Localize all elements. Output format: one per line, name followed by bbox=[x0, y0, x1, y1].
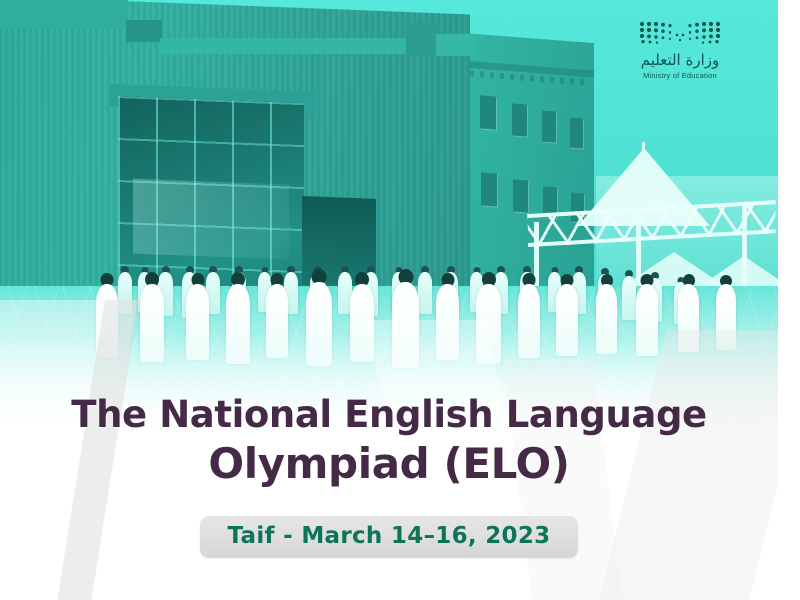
logo-arabic-text: وزارة التعليم bbox=[600, 52, 760, 69]
parapet-step bbox=[406, 22, 440, 56]
person bbox=[118, 272, 132, 314]
building-window bbox=[570, 117, 583, 148]
badge-container: Taif - March 14–16, 2023 bbox=[0, 516, 778, 558]
background-photo bbox=[0, 0, 778, 600]
crowd-of-students bbox=[0, 240, 778, 380]
person bbox=[716, 284, 736, 350]
building-window bbox=[542, 110, 556, 142]
parapet-step bbox=[0, 0, 128, 28]
parapet-step bbox=[436, 34, 476, 56]
person bbox=[418, 272, 432, 314]
person bbox=[350, 284, 374, 362]
person bbox=[622, 276, 636, 320]
parapet-step bbox=[160, 38, 410, 54]
palm-emblem-icon bbox=[637, 20, 723, 46]
tent-finial bbox=[642, 142, 645, 152]
building-window bbox=[481, 172, 497, 206]
person bbox=[518, 284, 540, 358]
parapet-step bbox=[126, 20, 162, 42]
person bbox=[556, 284, 578, 356]
person bbox=[140, 284, 164, 362]
person bbox=[266, 284, 288, 358]
person bbox=[636, 284, 658, 356]
person bbox=[186, 284, 209, 360]
event-poster: وزارة التعليم Ministry of Education The … bbox=[0, 0, 800, 600]
right-white-margin bbox=[778, 0, 800, 600]
building-window bbox=[512, 103, 527, 136]
building-window bbox=[513, 179, 528, 212]
person bbox=[476, 284, 501, 364]
title-line-2: Olympiad (ELO) bbox=[0, 438, 778, 490]
building-window bbox=[480, 95, 496, 129]
person bbox=[392, 282, 419, 368]
person bbox=[226, 284, 250, 364]
page-title: The National English Language Olympiad (… bbox=[0, 392, 778, 490]
person bbox=[96, 284, 118, 358]
ministry-of-education-logo: وزارة التعليم Ministry of Education bbox=[600, 20, 760, 80]
logo-english-text: Ministry of Education bbox=[600, 71, 760, 80]
person bbox=[678, 284, 699, 352]
person bbox=[306, 282, 332, 366]
person bbox=[596, 284, 617, 354]
event-date-location-badge: Taif - March 14–16, 2023 bbox=[200, 516, 579, 558]
person bbox=[436, 284, 459, 360]
title-line-1: The National English Language bbox=[0, 392, 778, 438]
